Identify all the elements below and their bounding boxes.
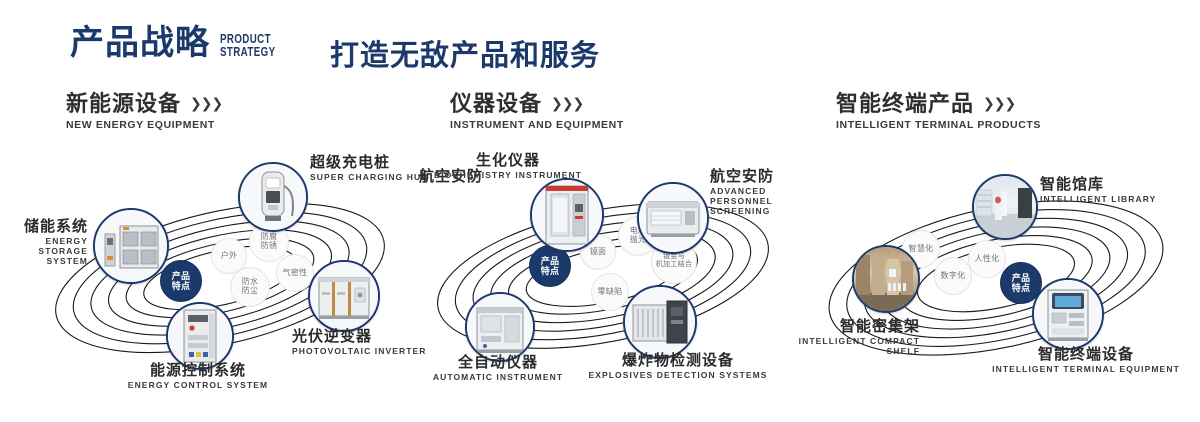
charging-hub-icon — [240, 164, 306, 230]
inverter-icon — [310, 262, 378, 330]
node-photo-automatic-instrument — [467, 294, 533, 360]
node-photo-advanced-personnel-screening — [639, 184, 707, 252]
section-title-new-energy: 新能源设备 ❯❯❯ NEW ENERGY EQUIPMENT — [66, 92, 222, 131]
cluster-intelligent: 智慧化 数字化 人性化 产品 特点 — [800, 150, 1200, 410]
library-interior-icon — [974, 176, 1036, 238]
node-photo-intelligent-terminal-equipment — [1034, 280, 1102, 348]
node-label-biochemistry-instrument: 生化仪器 BIOCHEMISTRY INSTRUMENT — [433, 152, 583, 181]
feature-bubble: 防水 防尘 — [230, 267, 270, 307]
node-photo-super-charging-hub — [240, 164, 306, 230]
section-title-en: NEW ENERGY EQUIPMENT — [66, 119, 222, 131]
section-title-intelligent: 智能终端产品 ❯❯❯ INTELLIGENT TERMINAL PRODUCTS — [836, 92, 1041, 131]
energy-storage-icon — [95, 210, 167, 282]
node-explosives-detection[interactable] — [623, 285, 697, 359]
control-cabinet-icon — [168, 304, 232, 368]
node-photo-photovoltaic-inverter — [310, 262, 378, 330]
feature-bubble: 人性化 — [968, 240, 1006, 278]
node-photo-explosives-detection — [625, 287, 695, 357]
node-photo-intelligent-library — [974, 176, 1036, 238]
chevrons-right-icon: ❯❯❯ — [983, 96, 1015, 111]
node-label-explosives-detection: 爆炸物检测设备 EXPLOSIVES DETECTION SYSTEMS — [583, 352, 773, 381]
section-title-cn: 智能终端产品 — [836, 92, 974, 116]
self-service-terminal-icon — [1034, 280, 1102, 348]
page-subtitle: 打造无敌产品和服务 — [330, 32, 600, 74]
page-title-en: PRODUCT STRATEGY — [220, 33, 275, 58]
feature-bubble: 数字化 — [934, 257, 972, 295]
node-photo-energy-storage — [95, 210, 167, 282]
screening-machine-icon — [639, 184, 707, 252]
page-title-en-line1: PRODUCT — [220, 33, 275, 46]
node-super-charging-hub[interactable] — [238, 162, 308, 232]
node-photo-energy-control-system — [168, 304, 232, 368]
node-photovoltaic-inverter[interactable] — [308, 260, 380, 332]
node-label-intelligent-terminal-equipment: 智能终端设备 INTELLIGENT TERMINAL EQUIPMENT — [976, 346, 1196, 375]
node-label-automatic-instrument: 全自动仪器 AUTOMATIC INSTRUMENT — [413, 354, 583, 383]
cluster-new-energy: 产品 特点 户外 防腐 防锈 防水 防尘 气密性 — [20, 150, 420, 410]
node-advanced-personnel-screening[interactable] — [637, 182, 709, 254]
node-intelligent-terminal-equipment[interactable] — [1032, 278, 1104, 350]
product-strategy-infographic: 产品战略 PRODUCT STRATEGY 打造无敌产品和服务 新能源设备 ❯❯… — [0, 0, 1200, 422]
node-intelligent-compact-shelf[interactable] — [852, 245, 920, 313]
node-energy-storage[interactable] — [93, 208, 169, 284]
node-label-energy-control-system: 能源控制系统 ENERGY CONTROL SYSTEM — [78, 362, 318, 391]
biochemistry-analyzer-icon — [532, 180, 602, 250]
section-title-en: INTELLIGENT TERMINAL PRODUCTS — [836, 119, 1041, 131]
node-biochemistry-instrument[interactable] — [530, 178, 604, 252]
node-label-intelligent-compact-shelf: 智能密集架 INTELLIGENT COMPACT SHELF — [790, 318, 920, 357]
feature-bubble: 零缺陷 — [591, 273, 629, 311]
node-intelligent-library[interactable] — [972, 174, 1038, 240]
cluster-instrument: 产品 特点 镜面 电解 抛光 钣金与 机加工结合 零缺陷 航空安防 — [405, 150, 805, 410]
page-title-en-line2: STRATEGY — [220, 46, 275, 59]
section-title-en: INSTRUMENT AND EQUIPMENT — [450, 119, 624, 131]
compact-shelf-icon — [854, 247, 918, 311]
node-label-energy-storage: 储能系统 ENERGY STORAGE SYSTEM — [0, 218, 88, 267]
chevrons-right-icon: ❯❯❯ — [551, 96, 583, 111]
node-label-intelligent-library: 智能馆库 INTELLIGENT LIBRARY — [1040, 176, 1156, 205]
section-title-cn: 仪器设备 — [450, 92, 542, 116]
node-photo-intelligent-compact-shelf — [854, 247, 918, 311]
node-automatic-instrument[interactable] — [465, 292, 535, 362]
section-title-cn: 新能源设备 — [66, 92, 181, 116]
node-photo-biochemistry-instrument — [532, 180, 602, 250]
node-label-advanced-personnel-screening: 航空安防 ADVANCED PERSONNEL SCREENING — [710, 168, 805, 217]
chevrons-right-icon: ❯❯❯ — [190, 96, 222, 111]
page-title: 产品战略 — [70, 26, 210, 60]
automatic-analyzer-icon — [467, 294, 533, 360]
explosives-detector-icon — [625, 287, 695, 357]
section-title-instrument: 仪器设备 ❯❯❯ INSTRUMENT AND EQUIPMENT — [450, 92, 624, 131]
page-header: 产品战略 PRODUCT STRATEGY — [70, 26, 291, 60]
node-energy-control-system[interactable] — [166, 302, 234, 370]
